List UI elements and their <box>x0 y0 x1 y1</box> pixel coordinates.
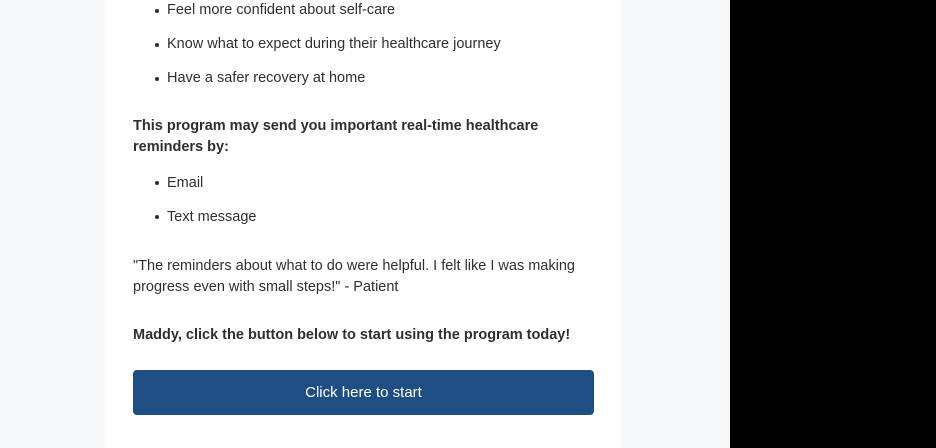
viewport-letterbox-fill <box>730 0 936 448</box>
reminder-channels-list: Email Text message <box>133 173 595 228</box>
program-benefits-list: Feel more confident about self-care Know… <box>133 0 595 89</box>
email-content-column: Feel more confident about self-care Know… <box>133 0 595 448</box>
list-item: Email <box>167 173 595 194</box>
cta-prompt-text: Maddy, click the button below to start u… <box>133 325 595 346</box>
patient-testimonial: "The reminders about what to do were hel… <box>133 256 595 298</box>
list-item: Text message <box>167 207 595 228</box>
email-preview-screen: Feel more confident about self-care Know… <box>0 0 936 448</box>
reminders-heading: This program may send you important real… <box>133 116 595 158</box>
click-here-to-start-button[interactable]: Click here to start <box>133 370 594 415</box>
list-item: Know what to expect during their healthc… <box>167 34 595 55</box>
list-item: Feel more confident about self-care <box>167 0 595 21</box>
list-item: Have a safer recovery at home <box>167 68 595 89</box>
email-body-card: Feel more confident about self-care Know… <box>105 0 621 448</box>
